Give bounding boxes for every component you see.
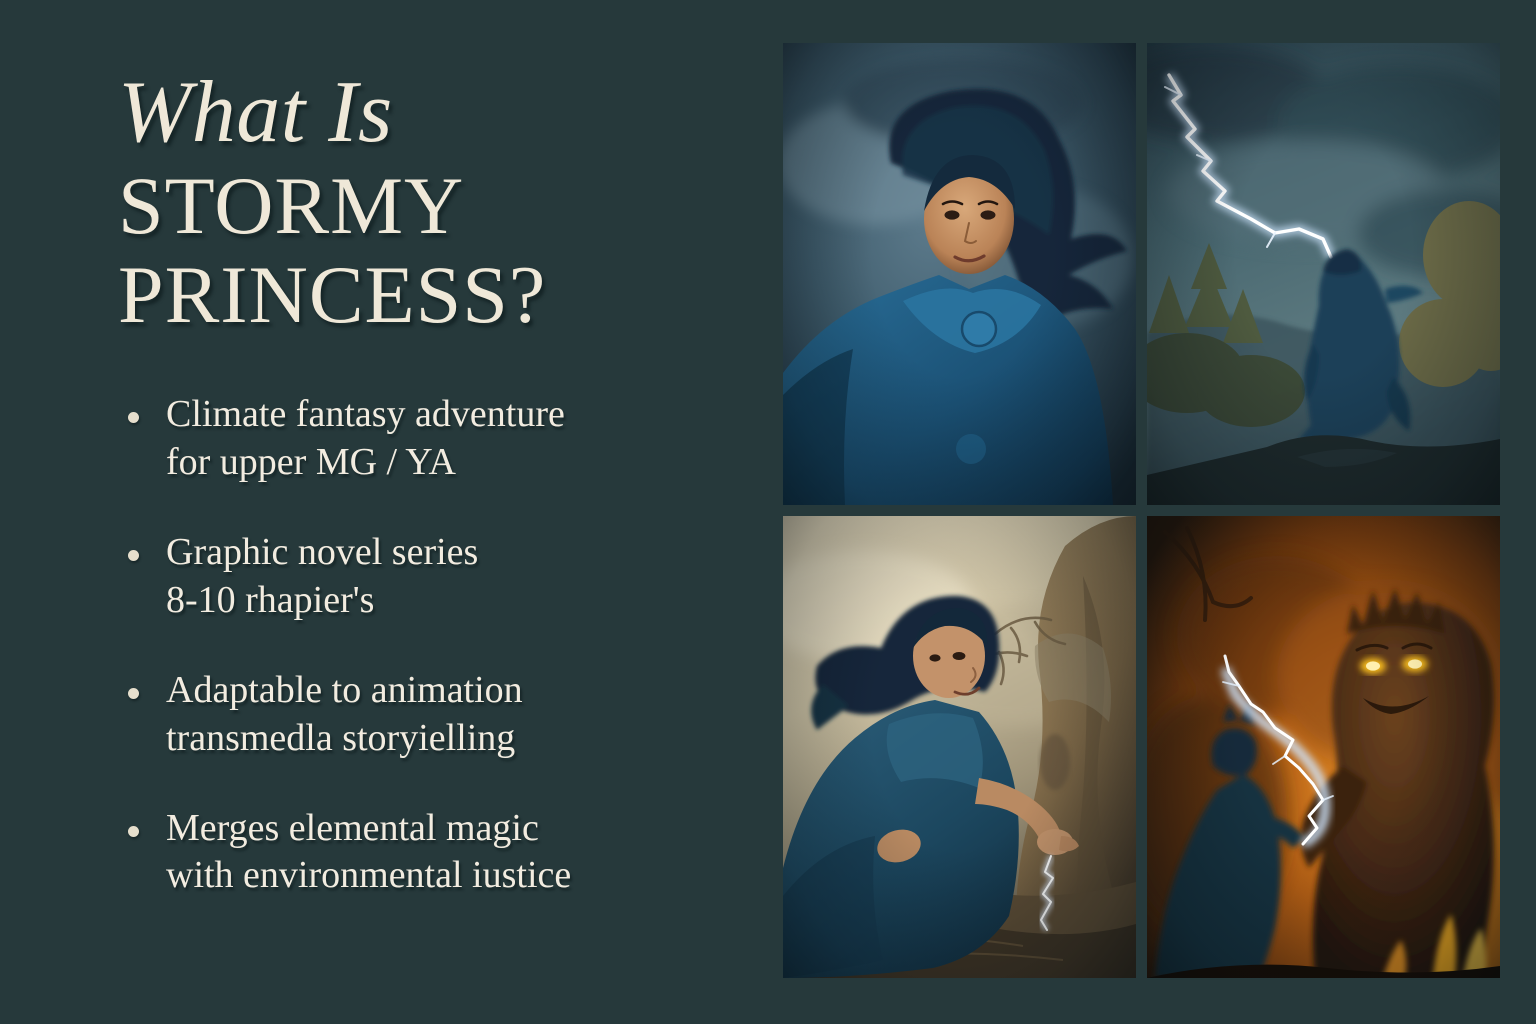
bullet-dot-icon	[128, 550, 139, 561]
list-item: Adaptable to animation transmedla storyi…	[118, 667, 730, 763]
list-item: Merges elemental magic with environmenta…	[118, 805, 730, 901]
illustration-panel-portrait	[783, 43, 1136, 505]
illustration-panel-lightning-ridge	[1147, 43, 1500, 505]
bullet-list: Climate fantasy adventure for upper MG /…	[118, 391, 730, 900]
bullet-text: Adaptable to animation transmedla storyi…	[166, 667, 730, 763]
bullet-dot-icon	[128, 826, 139, 837]
page-title: What Is STORMY PRINCESS?	[118, 70, 730, 339]
bullet-dot-icon	[128, 412, 139, 423]
illustration-grid	[783, 43, 1495, 980]
bullet-text: Merges elemental magic with environmenta…	[166, 805, 730, 901]
illustration-panel-fire-beast	[1147, 516, 1500, 978]
title-kicker: What Is	[118, 70, 730, 156]
bullet-text: Climate fantasy adventure for upper MG /…	[166, 391, 730, 487]
bullet-text: Graphic novel series 8-10 rhapier's	[166, 529, 730, 625]
slide-root: What Is STORMY PRINCESS? Climate fantasy…	[0, 0, 1536, 1024]
title-main: STORMY PRINCESS?	[118, 162, 730, 339]
list-item: Graphic novel series 8-10 rhapier's	[118, 529, 730, 625]
illustration-panel-kneeling-spark	[783, 516, 1136, 978]
bullet-dot-icon	[128, 688, 139, 699]
list-item: Climate fantasy adventure for upper MG /…	[118, 391, 730, 487]
text-column: What Is STORMY PRINCESS? Climate fantasy…	[0, 0, 770, 1024]
